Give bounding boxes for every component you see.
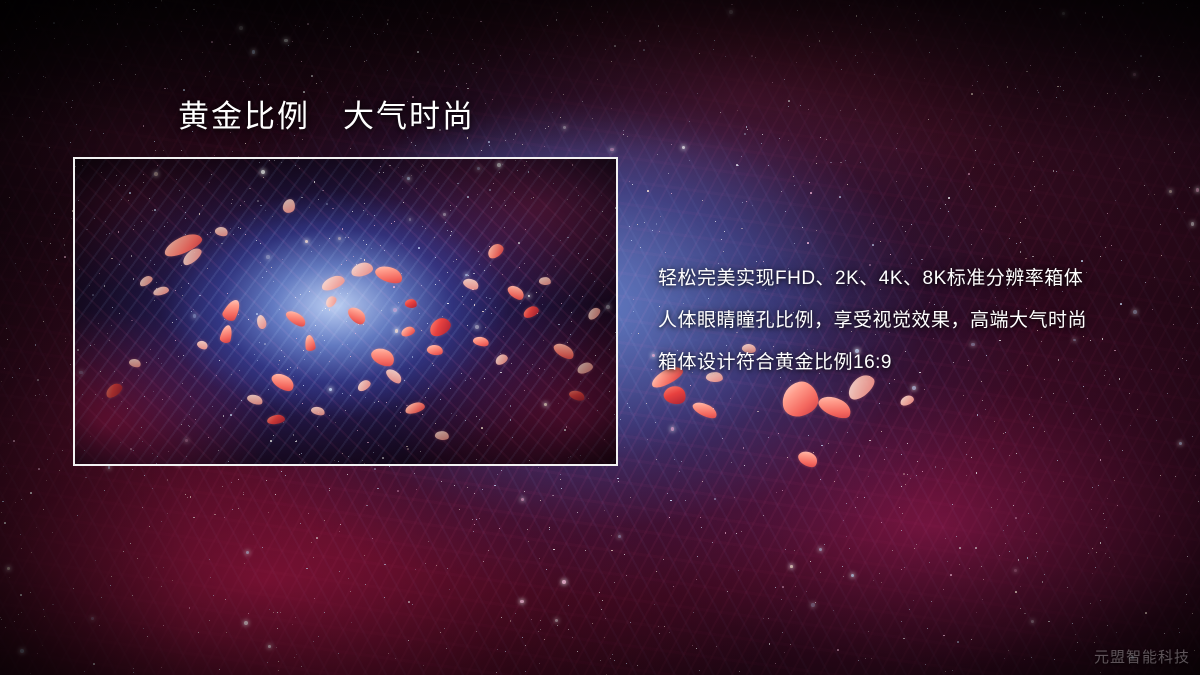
star bbox=[321, 81, 322, 82]
star bbox=[1111, 245, 1112, 246]
led-cabinet-preview-frame[interactable] bbox=[73, 157, 618, 466]
star bbox=[1116, 632, 1117, 633]
star bbox=[213, 595, 214, 596]
star bbox=[966, 454, 967, 455]
star bbox=[633, 299, 634, 300]
star bbox=[836, 452, 837, 453]
star bbox=[755, 57, 756, 58]
star bbox=[56, 182, 57, 183]
star bbox=[295, 617, 296, 618]
star bbox=[656, 223, 658, 225]
star bbox=[43, 609, 44, 610]
star bbox=[552, 112, 553, 113]
star bbox=[417, 18, 418, 19]
star bbox=[4, 368, 5, 369]
star bbox=[497, 649, 498, 650]
star bbox=[772, 82, 773, 83]
star bbox=[1063, 90, 1064, 91]
star bbox=[301, 666, 302, 667]
star bbox=[985, 409, 986, 410]
star bbox=[742, 202, 743, 203]
star bbox=[999, 555, 1000, 556]
star bbox=[1184, 347, 1185, 348]
star bbox=[1056, 171, 1057, 172]
star bbox=[156, 567, 157, 568]
star bbox=[300, 523, 301, 524]
star bbox=[590, 19, 592, 21]
star bbox=[639, 40, 641, 42]
star bbox=[453, 53, 454, 54]
star bbox=[226, 632, 227, 633]
star bbox=[1198, 501, 1199, 502]
star bbox=[499, 528, 500, 529]
star bbox=[775, 663, 776, 664]
star bbox=[65, 338, 66, 339]
star bbox=[899, 507, 900, 508]
star bbox=[467, 88, 469, 90]
star bbox=[1037, 108, 1038, 109]
star bbox=[551, 92, 552, 93]
star bbox=[268, 512, 269, 513]
star bbox=[736, 533, 737, 534]
star bbox=[552, 495, 553, 496]
copy-line-3: 箱体设计符合黄金比例16:9 bbox=[658, 342, 1178, 384]
star bbox=[225, 599, 226, 600]
star bbox=[186, 19, 187, 20]
star bbox=[56, 304, 57, 305]
star bbox=[260, 77, 261, 78]
star bbox=[1190, 276, 1191, 277]
star bbox=[929, 52, 930, 53]
star bbox=[1005, 543, 1006, 544]
star bbox=[481, 150, 482, 151]
star bbox=[790, 400, 794, 404]
star bbox=[1114, 480, 1115, 481]
star bbox=[265, 64, 266, 65]
star bbox=[665, 252, 667, 254]
star bbox=[545, 128, 546, 129]
star bbox=[807, 242, 809, 244]
star bbox=[99, 82, 100, 83]
star bbox=[975, 547, 977, 549]
star bbox=[280, 612, 281, 613]
star bbox=[161, 0, 162, 1]
star bbox=[29, 117, 30, 118]
star bbox=[1054, 659, 1055, 660]
star bbox=[1015, 88, 1016, 89]
star bbox=[713, 408, 714, 409]
star bbox=[1063, 481, 1064, 482]
star bbox=[1080, 24, 1081, 25]
star bbox=[1169, 190, 1172, 193]
star bbox=[785, 549, 786, 550]
star bbox=[70, 364, 71, 365]
star bbox=[892, 550, 893, 551]
star bbox=[907, 474, 908, 475]
star bbox=[408, 601, 410, 603]
star bbox=[1015, 517, 1017, 519]
star bbox=[929, 562, 930, 563]
star bbox=[1066, 401, 1067, 402]
star bbox=[5, 627, 6, 628]
star bbox=[1085, 12, 1087, 14]
star bbox=[911, 224, 912, 225]
star bbox=[142, 507, 143, 508]
star bbox=[73, 0, 74, 1]
star bbox=[1109, 384, 1110, 385]
star bbox=[1172, 417, 1173, 418]
star bbox=[21, 548, 22, 549]
star bbox=[46, 395, 48, 397]
star bbox=[849, 5, 850, 6]
star bbox=[167, 479, 169, 481]
star bbox=[912, 386, 916, 390]
star bbox=[757, 411, 759, 413]
star bbox=[348, 578, 349, 579]
star bbox=[314, 598, 315, 599]
star bbox=[633, 311, 634, 312]
star bbox=[149, 25, 150, 26]
star bbox=[976, 612, 977, 613]
star bbox=[1020, 608, 1021, 609]
star bbox=[459, 509, 460, 510]
star bbox=[1191, 307, 1193, 309]
star bbox=[1058, 77, 1059, 78]
star bbox=[1109, 557, 1110, 558]
star bbox=[797, 10, 798, 11]
star bbox=[1042, 156, 1044, 158]
star bbox=[568, 605, 569, 606]
star bbox=[577, 35, 578, 36]
star bbox=[311, 542, 312, 543]
star bbox=[1148, 194, 1149, 195]
star bbox=[432, 18, 433, 19]
star bbox=[1167, 393, 1168, 394]
star bbox=[76, 124, 77, 125]
star bbox=[813, 452, 814, 453]
star bbox=[268, 43, 269, 44]
star bbox=[788, 140, 789, 141]
star bbox=[407, 137, 409, 139]
star bbox=[412, 96, 414, 98]
star bbox=[796, 596, 797, 597]
star bbox=[377, 34, 378, 35]
star bbox=[295, 54, 297, 56]
star bbox=[1098, 485, 1100, 487]
star bbox=[700, 517, 701, 518]
flower-petal bbox=[816, 391, 854, 422]
star bbox=[53, 296, 55, 298]
star bbox=[689, 160, 690, 161]
star bbox=[624, 447, 625, 448]
star bbox=[1044, 574, 1045, 575]
star bbox=[318, 636, 320, 638]
star bbox=[68, 44, 69, 45]
star bbox=[239, 26, 243, 30]
star bbox=[31, 552, 32, 553]
star bbox=[1073, 413, 1074, 414]
star bbox=[952, 504, 953, 505]
star bbox=[682, 146, 685, 149]
star bbox=[244, 563, 245, 564]
star bbox=[1042, 581, 1044, 583]
star bbox=[64, 256, 66, 258]
star bbox=[1, 381, 2, 382]
star bbox=[1042, 184, 1043, 185]
star bbox=[981, 229, 982, 230]
star bbox=[901, 454, 902, 455]
star bbox=[362, 14, 363, 15]
star bbox=[540, 620, 541, 621]
star bbox=[702, 200, 703, 201]
star bbox=[59, 283, 60, 284]
star bbox=[49, 368, 50, 369]
star bbox=[784, 79, 785, 80]
star bbox=[1129, 393, 1130, 394]
star bbox=[15, 263, 16, 264]
star bbox=[781, 599, 782, 600]
star bbox=[20, 271, 21, 272]
star bbox=[971, 639, 972, 640]
star bbox=[982, 400, 983, 401]
star bbox=[417, 51, 419, 53]
star bbox=[38, 89, 39, 90]
star bbox=[1077, 642, 1078, 643]
star bbox=[927, 186, 928, 187]
star bbox=[741, 228, 743, 230]
star bbox=[699, 670, 700, 671]
star bbox=[601, 609, 602, 610]
star bbox=[763, 618, 764, 619]
star bbox=[387, 19, 389, 21]
star bbox=[500, 55, 501, 56]
star bbox=[4, 522, 6, 524]
star bbox=[181, 59, 182, 60]
star bbox=[842, 566, 843, 567]
star bbox=[525, 671, 526, 672]
preview-vignette bbox=[75, 159, 616, 464]
star bbox=[387, 70, 388, 71]
star bbox=[65, 341, 66, 342]
star bbox=[16, 29, 17, 30]
star bbox=[976, 472, 978, 474]
star bbox=[1047, 551, 1048, 552]
star bbox=[782, 586, 784, 588]
star bbox=[244, 621, 248, 625]
star bbox=[84, 671, 85, 672]
star bbox=[35, 344, 37, 346]
star bbox=[73, 588, 74, 589]
star bbox=[778, 433, 779, 434]
star bbox=[547, 25, 548, 26]
star bbox=[1088, 553, 1089, 554]
star bbox=[1127, 67, 1128, 68]
star bbox=[484, 49, 485, 50]
star bbox=[766, 463, 767, 464]
star bbox=[71, 218, 72, 219]
star bbox=[49, 434, 50, 435]
star bbox=[476, 72, 477, 73]
star bbox=[1032, 416, 1033, 417]
star bbox=[916, 39, 918, 41]
star bbox=[959, 15, 960, 16]
star bbox=[744, 133, 746, 135]
star bbox=[738, 570, 739, 571]
star bbox=[213, 4, 215, 6]
star bbox=[278, 24, 279, 25]
star bbox=[896, 181, 897, 182]
star bbox=[640, 247, 641, 248]
star bbox=[1048, 621, 1050, 623]
star bbox=[837, 649, 839, 651]
star bbox=[1029, 414, 1030, 415]
star bbox=[562, 580, 566, 584]
star bbox=[949, 197, 950, 198]
star bbox=[1036, 552, 1037, 553]
star bbox=[43, 76, 44, 77]
star bbox=[816, 230, 818, 232]
star bbox=[1123, 477, 1125, 479]
star bbox=[143, 628, 144, 629]
star bbox=[557, 12, 558, 13]
star bbox=[476, 519, 477, 520]
star bbox=[1169, 35, 1170, 36]
star bbox=[133, 672, 134, 673]
star bbox=[66, 102, 67, 103]
star bbox=[725, 532, 727, 534]
star bbox=[488, 141, 490, 143]
star bbox=[1087, 398, 1088, 399]
star bbox=[1178, 628, 1179, 629]
star bbox=[167, 88, 169, 90]
star bbox=[466, 83, 467, 84]
star bbox=[59, 470, 60, 471]
star bbox=[427, 12, 429, 14]
star bbox=[956, 536, 957, 537]
star bbox=[1003, 433, 1004, 434]
star bbox=[1186, 360, 1187, 361]
flower-petal bbox=[899, 394, 915, 407]
star bbox=[625, 35, 626, 36]
star bbox=[811, 603, 815, 607]
star bbox=[161, 586, 162, 587]
star bbox=[813, 647, 814, 648]
star bbox=[163, 150, 164, 151]
star bbox=[46, 480, 47, 481]
star bbox=[340, 524, 341, 525]
star bbox=[969, 186, 970, 187]
star bbox=[881, 431, 882, 432]
star bbox=[101, 597, 102, 598]
star bbox=[37, 653, 38, 654]
star bbox=[808, 435, 809, 436]
star bbox=[843, 520, 845, 522]
star bbox=[983, 579, 984, 580]
star bbox=[727, 591, 728, 592]
star bbox=[721, 239, 722, 240]
star bbox=[647, 439, 648, 440]
star bbox=[238, 508, 239, 509]
star bbox=[1160, 475, 1161, 476]
star bbox=[531, 619, 532, 620]
star bbox=[1057, 86, 1059, 88]
star bbox=[1192, 613, 1193, 614]
star bbox=[444, 70, 446, 72]
star bbox=[447, 568, 448, 569]
star bbox=[1038, 92, 1039, 93]
star bbox=[1034, 186, 1035, 187]
star bbox=[1104, 519, 1105, 520]
star bbox=[924, 78, 925, 79]
star bbox=[820, 572, 821, 573]
star bbox=[1174, 535, 1176, 537]
page-title: 黄金比例 大气时尚 bbox=[178, 100, 475, 134]
star bbox=[872, 17, 873, 18]
star bbox=[959, 547, 961, 549]
star bbox=[313, 641, 314, 642]
star bbox=[604, 637, 605, 638]
star bbox=[739, 671, 740, 672]
star bbox=[652, 354, 656, 358]
star bbox=[855, 507, 856, 508]
star bbox=[273, 612, 274, 613]
star bbox=[19, 368, 21, 370]
star bbox=[791, 610, 792, 611]
star bbox=[275, 494, 276, 495]
star bbox=[834, 481, 835, 482]
star bbox=[501, 470, 502, 471]
star bbox=[549, 529, 551, 531]
star bbox=[638, 333, 639, 334]
star bbox=[115, 12, 116, 13]
star bbox=[155, 150, 156, 151]
star bbox=[161, 521, 162, 522]
star bbox=[681, 461, 682, 462]
star bbox=[167, 513, 168, 514]
star bbox=[671, 144, 672, 145]
star bbox=[360, 17, 361, 18]
star bbox=[973, 167, 974, 168]
star bbox=[132, 595, 133, 596]
star bbox=[416, 489, 417, 490]
star bbox=[8, 443, 9, 444]
star bbox=[884, 459, 885, 460]
star bbox=[1056, 97, 1057, 98]
star bbox=[467, 137, 469, 139]
star bbox=[1179, 632, 1180, 633]
star bbox=[560, 117, 561, 118]
star bbox=[600, 660, 601, 661]
star bbox=[751, 55, 753, 57]
star bbox=[374, 468, 376, 470]
star bbox=[697, 556, 698, 557]
star bbox=[855, 55, 856, 56]
star bbox=[1154, 194, 1155, 195]
star bbox=[130, 543, 131, 544]
star bbox=[553, 495, 554, 496]
star bbox=[819, 40, 821, 42]
star bbox=[20, 649, 24, 653]
star bbox=[982, 599, 984, 601]
star bbox=[747, 129, 748, 130]
star bbox=[1067, 587, 1068, 588]
star bbox=[689, 121, 690, 122]
star bbox=[415, 61, 417, 63]
star bbox=[591, 6, 592, 7]
star bbox=[415, 569, 416, 570]
star bbox=[1, 619, 2, 620]
star bbox=[816, 156, 817, 157]
